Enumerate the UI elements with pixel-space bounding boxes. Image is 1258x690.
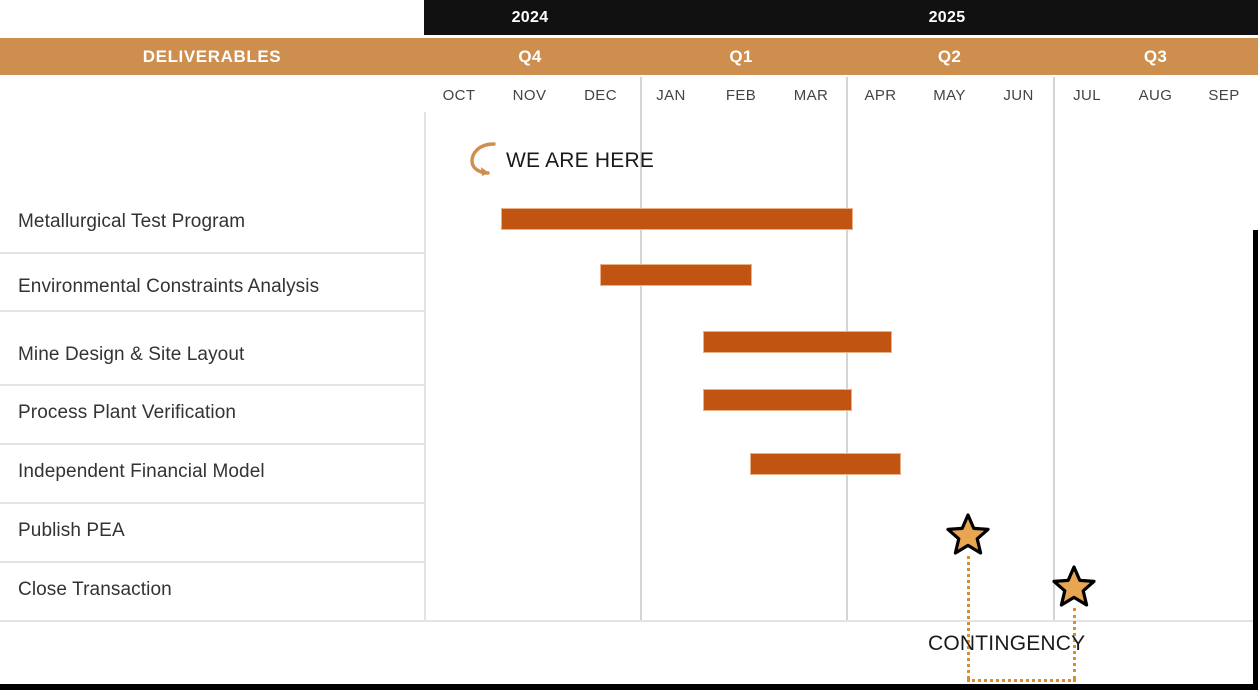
task-label-6: Close Transaction (18, 579, 172, 601)
row-separator-1 (0, 252, 424, 254)
month-cell-dec: DEC (565, 80, 636, 112)
month-cell-sep: SEP (1190, 80, 1258, 112)
month-cell-jan: JAN (636, 80, 706, 112)
month-cell-jul: JUL (1053, 80, 1121, 112)
row-separator-3 (0, 384, 424, 386)
year-cell-2024: 2024 (424, 0, 636, 35)
row-separator-7 (0, 620, 424, 622)
frame-bottom-edge (0, 684, 1258, 690)
curved-arrow-icon (468, 138, 502, 183)
month-cell-mar: MAR (776, 80, 846, 112)
task-label-3: Process Plant Verification (18, 402, 236, 424)
task-label-5: Publish PEA (18, 520, 125, 542)
deliverables-header: DELIVERABLES (0, 38, 424, 75)
task-label-0: Metallurgical Test Program (18, 211, 245, 233)
gantt-bar-4[interactable] (750, 453, 901, 475)
we-are-here-label: WE ARE HERE (506, 149, 654, 173)
month-cell-aug: AUG (1121, 80, 1190, 112)
gantt-bar-3[interactable] (703, 389, 852, 411)
quarter-cell-q4: Q4 (424, 38, 636, 75)
month-cell-jun: JUN (984, 80, 1053, 112)
quarter-cell-q2: Q2 (846, 38, 1053, 75)
gantt-bar-0[interactable] (501, 208, 853, 230)
task-label-1: Environmental Constraints Analysis (18, 276, 319, 298)
milestone-star-0[interactable] (946, 512, 990, 561)
row-separator-2 (0, 310, 424, 312)
gantt-bar-2[interactable] (703, 331, 892, 353)
contingency-line-bottom (967, 679, 1076, 682)
quarter-divider-3 (1053, 77, 1055, 622)
we-are-here-marker: WE ARE HERE (468, 138, 654, 183)
month-cell-oct: OCT (424, 80, 494, 112)
task-label-4: Independent Financial Model (18, 461, 265, 483)
frame-right-edge (1253, 230, 1258, 685)
contingency-label: CONTINGENCY (928, 632, 1085, 656)
quarter-cell-q3: Q3 (1053, 38, 1258, 75)
contingency-line-left (967, 556, 970, 679)
month-cell-apr: APR (846, 80, 915, 112)
quarter-cell-q1: Q1 (636, 38, 846, 75)
month-cell-feb: FEB (706, 80, 776, 112)
month-cell-nov: NOV (494, 80, 565, 112)
milestone-star-1[interactable] (1052, 564, 1096, 613)
task-label-2: Mine Design & Site Layout (18, 344, 244, 366)
month-cell-may: MAY (915, 80, 984, 112)
label-column-divider (424, 112, 426, 622)
row-separator-4 (0, 443, 424, 445)
row-separator-5 (0, 502, 424, 504)
year-cell-2025: 2025 (636, 0, 1258, 35)
gantt-chart: 20242025 DELIVERABLES Q4Q1Q2Q3 OCTNOVDEC… (0, 0, 1258, 690)
row-separator-timeline-7 (424, 620, 1258, 622)
gantt-bar-1[interactable] (600, 264, 752, 286)
row-separator-6 (0, 561, 424, 563)
